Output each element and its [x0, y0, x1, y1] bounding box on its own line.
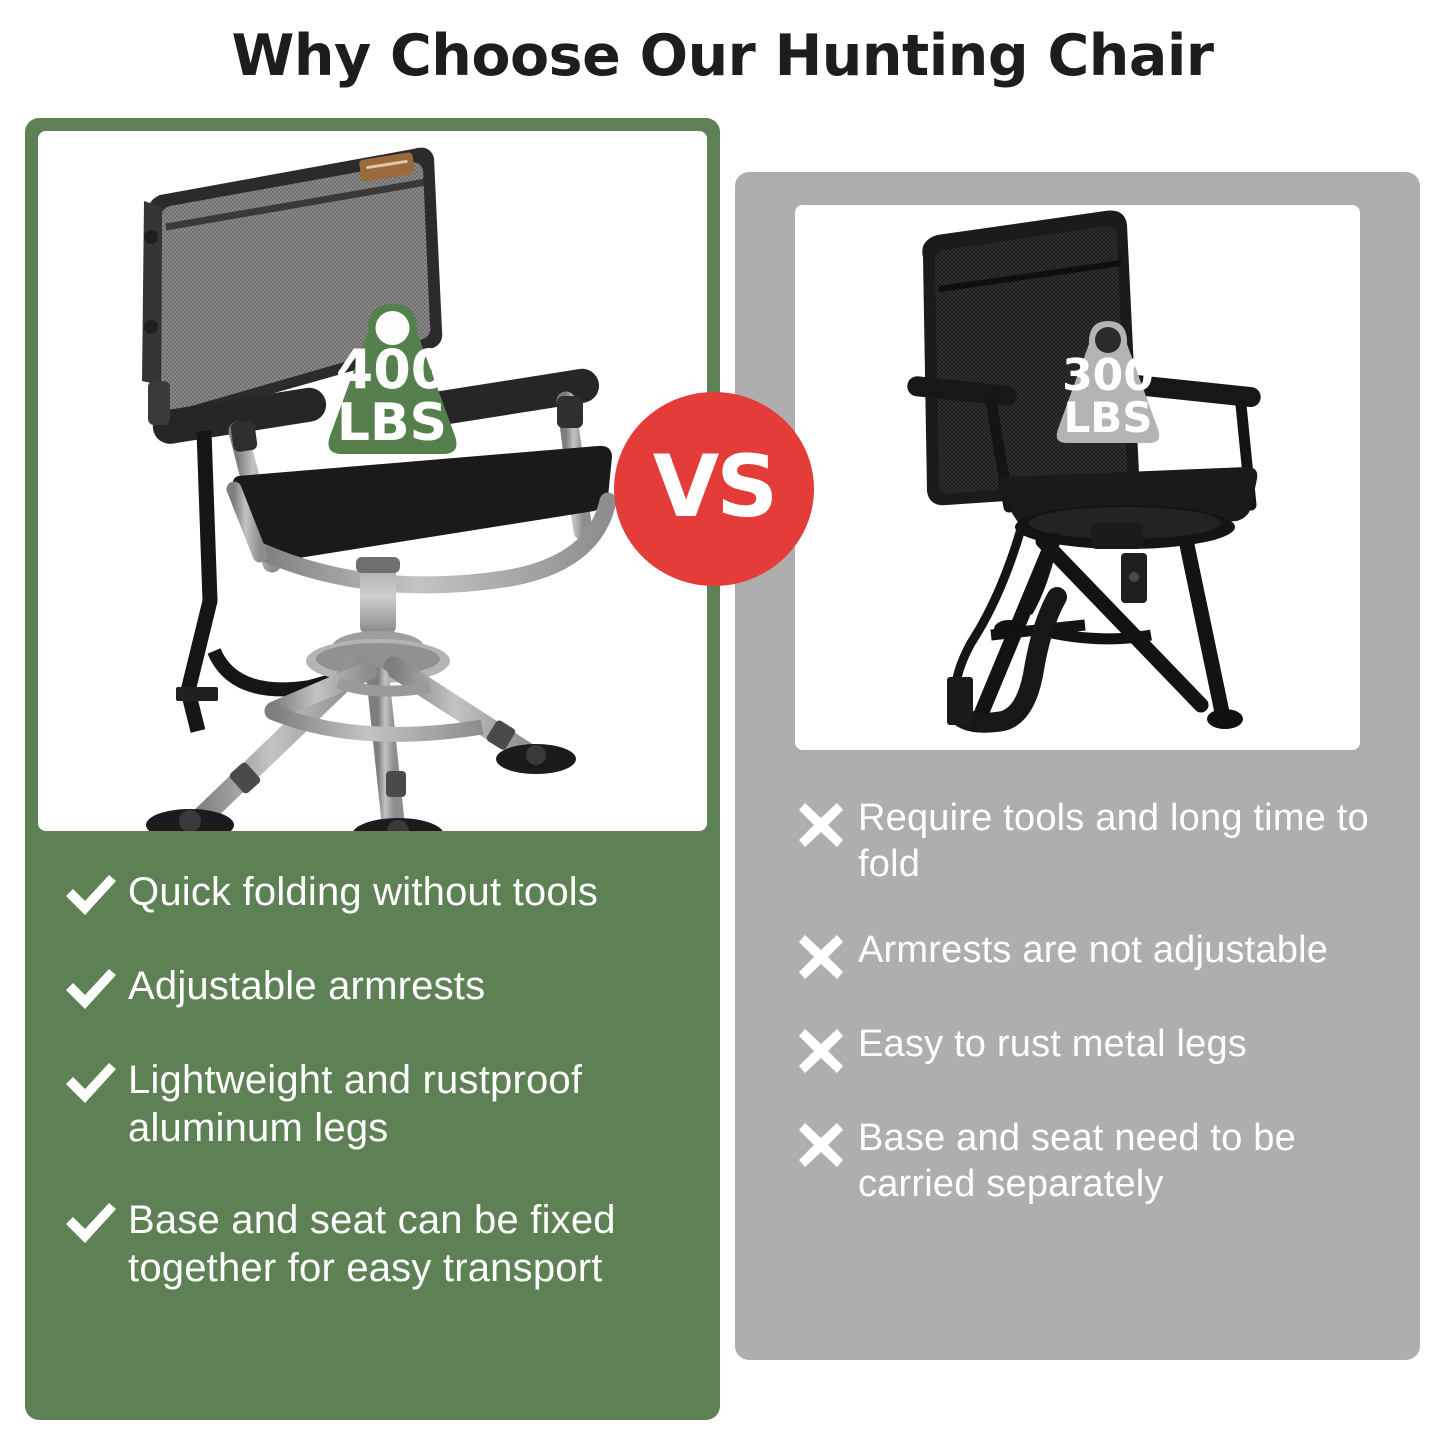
list-item: Armrests are not adjustable: [790, 927, 1400, 981]
list-item: Require tools and long time to fold: [790, 795, 1400, 887]
cross-icon: [790, 795, 852, 849]
check-icon: [60, 1196, 122, 1246]
vs-label: VS: [653, 444, 776, 530]
cross-icon: [790, 1021, 852, 1075]
con-feature-list: Require tools and long time to fold Armr…: [790, 795, 1400, 1247]
list-item: Lightweight and rustproof aluminum legs: [60, 1056, 700, 1152]
check-icon: [60, 962, 122, 1012]
list-item-label: Base and seat need to be carried separat…: [852, 1115, 1400, 1207]
pro-product-photo: [38, 131, 707, 831]
cross-icon: [790, 1115, 852, 1169]
vs-badge: VS: [614, 392, 814, 586]
check-icon: [60, 1056, 122, 1106]
list-item-label: Easy to rust metal legs: [852, 1021, 1247, 1067]
pro-weight-value: 400: [336, 338, 449, 401]
check-icon: [60, 868, 122, 918]
con-weight-badge: 300 LBS: [1038, 308, 1178, 448]
page-title: Why Choose Our Hunting Chair: [0, 20, 1445, 92]
pro-weight-unit: LBS: [337, 393, 447, 453]
list-item: Base and seat can be fixed together for …: [60, 1196, 700, 1292]
list-item: Quick folding without tools: [60, 868, 700, 918]
list-item-label: Armrests are not adjustable: [852, 927, 1328, 973]
list-item: Adjustable armrests: [60, 962, 700, 1012]
cross-icon: [790, 927, 852, 981]
list-item: Easy to rust metal legs: [790, 1021, 1400, 1075]
list-item-label: Base and seat can be fixed together for …: [122, 1196, 700, 1292]
pro-weight-badge: 400 LBS: [305, 288, 480, 460]
con-product-photo: [795, 205, 1360, 750]
pro-feature-list: Quick folding without tools Adjustable a…: [60, 868, 700, 1336]
list-item-label: Quick folding without tools: [122, 868, 598, 916]
list-item-label: Lightweight and rustproof aluminum legs: [122, 1056, 700, 1152]
list-item: Base and seat need to be carried separat…: [790, 1115, 1400, 1207]
con-weight-unit: LBS: [1063, 393, 1152, 442]
list-item-label: Require tools and long time to fold: [852, 795, 1400, 887]
list-item-label: Adjustable armrests: [122, 962, 485, 1010]
